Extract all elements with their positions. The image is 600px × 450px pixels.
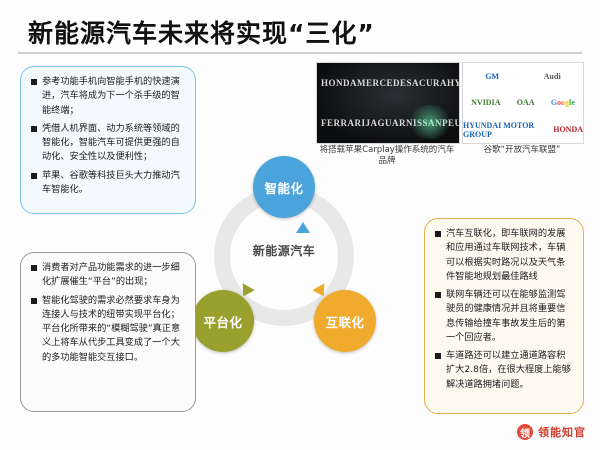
bullet-text: 消费者对产品功能需求的进一步细化扩展催生“平台”的出现；	[42, 261, 185, 290]
alliance-mark: HYUNDAI MOTOR GROUP	[463, 121, 553, 139]
diagram-center-label: 新能源汽车	[196, 242, 372, 259]
alliance-row-3: HYUNDAI MOTOR GROUP HONDA	[463, 116, 583, 143]
callout-bullet: 凭借人机界面、动力系统等领域的智能化，智能汽车可提供更强的自动化、安全性以及便利…	[31, 122, 185, 165]
bullet-square-icon	[435, 292, 441, 298]
bullet-text: 参考功能手机向智能手机的快速演进，汽车将成为下一个杀手级的智能终端；	[42, 75, 185, 118]
bullet-square-icon	[435, 353, 441, 359]
bullet-square-icon	[31, 265, 37, 271]
alliance-row-1: GM Audi	[463, 63, 583, 90]
alliance-mark: Audi	[544, 72, 561, 81]
callout-bullet: 车道路还可以建立通道路容积扩大2.8倍，在很大程度上能够解决道路拥堵问题。	[435, 349, 573, 392]
page-title: 新能源汽车未来将实现“三化”	[28, 14, 375, 50]
diagram-node-connected[interactable]: 互联化	[314, 290, 376, 352]
callout-bullet: 苹果、谷歌等科技巨头大力推动汽车智能化。	[31, 169, 185, 198]
carplay-brands-caption: 将搭载苹果Carplay操作系统的汽车品牌	[316, 145, 458, 168]
title-divider	[18, 52, 582, 54]
bullet-text: 智能化驾驶的需求必然要求车身为连接人与技术的纽带实现平台化；平台化所带来的“模糊…	[42, 294, 185, 365]
bullet-text: 联网车辆还可以在能够监测驾驶员的健康情况并且将重要信息传输给撞车事故发生后的第一…	[446, 288, 573, 345]
open-auto-alliance-caption: 谷歌“开放汽车联盟”	[462, 145, 582, 156]
diagram-node-intelligent[interactable]: 智能化	[253, 156, 315, 218]
alliance-mark: GM	[485, 72, 499, 81]
callout-bullet: 消费者对产品功能需求的进一步细化扩展催生“平台”的出现；	[31, 261, 185, 290]
bullet-square-icon	[31, 126, 37, 132]
carplay-brands-image: HONDA MERCEDES ACURA HYUNDAI FERRARI JAG…	[316, 62, 460, 144]
callout-bullet: 智能化驾驶的需求必然要求车身为连接人与技术的纽带实现平台化；平台化所带来的“模糊…	[31, 294, 185, 365]
open-auto-alliance-image: GM Audi NVIDIA OAA Google HYUNDAI MOTOR …	[462, 62, 584, 144]
watermark-text: 领能知官	[538, 424, 586, 440]
alliance-mark: Google	[551, 98, 575, 107]
callout-bullet: 汽车互联化，即车联网的发展和应用通过车联网技术，车辆可以根据实时路况以及天气条件…	[435, 227, 573, 284]
three-ization-diagram: 新能源汽车 智能化 平台化 互联化	[196, 168, 372, 344]
brand-mark: FERRARI	[321, 118, 366, 128]
bullet-square-icon	[31, 79, 37, 85]
callout-intelligent: 参考功能手机向智能手机的快速演进，汽车将成为下一个杀手级的智能终端； 凭借人机界…	[20, 66, 196, 214]
callout-connected: 汽车互联化，即车联网的发展和应用通过车联网技术，车辆可以根据实时路况以及天气条件…	[424, 218, 584, 414]
bullet-text: 凭借人机界面、动力系统等领域的智能化，智能汽车可提供更强的自动化、安全性以及便利…	[42, 122, 185, 165]
alliance-mark: NVIDIA	[471, 98, 500, 107]
brand-mark: HYUNDAI	[447, 78, 460, 88]
bullet-text: 苹果、谷歌等科技巨头大力推动汽车智能化。	[42, 169, 185, 198]
diagram-node-platform[interactable]: 平台化	[192, 290, 254, 352]
alliance-mark: HONDA	[553, 125, 583, 134]
slide-canvas: 新能源汽车未来将实现“三化” HONDA MERCEDES ACURA HYUN…	[0, 0, 600, 450]
bullet-square-icon	[31, 173, 37, 179]
callout-bullet: 联网车辆还可以在能够监测驾驶员的健康情况并且将重要信息传输给撞车事故发生后的第一…	[435, 288, 573, 345]
brand-row-1: HONDA MERCEDES ACURA HYUNDAI	[317, 63, 459, 103]
brand-mark: HONDA	[321, 78, 357, 88]
callout-platform: 消费者对产品功能需求的进一步细化扩展催生“平台”的出现； 智能化驾驶的需求必然要…	[20, 252, 196, 412]
headlight-glow	[407, 105, 453, 139]
bullet-text: 车道路还可以建立通道路容积扩大2.8倍，在很大程度上能够解决道路拥堵问题。	[446, 349, 573, 392]
bullet-text: 汽车互联化，即车联网的发展和应用通过车联网技术，车辆可以根据实时路况以及天气条件…	[446, 227, 573, 284]
alliance-row-2: NVIDIA OAA Google	[463, 90, 583, 117]
brand-mark: ACURA	[412, 78, 447, 88]
callout-bullet: 参考功能手机向智能手机的快速演进，汽车将成为下一个杀手级的智能终端；	[31, 75, 185, 118]
brand-mark: JAGUAR	[366, 118, 407, 128]
bullet-square-icon	[31, 298, 37, 304]
brand-mark: MERCEDES	[357, 78, 412, 88]
bullet-square-icon	[435, 231, 441, 237]
alliance-mark: OAA	[517, 98, 535, 107]
watermark-badge-icon: 领	[517, 424, 533, 440]
watermark: 领 领能知官	[517, 424, 586, 440]
arrow-up-icon	[296, 222, 310, 233]
